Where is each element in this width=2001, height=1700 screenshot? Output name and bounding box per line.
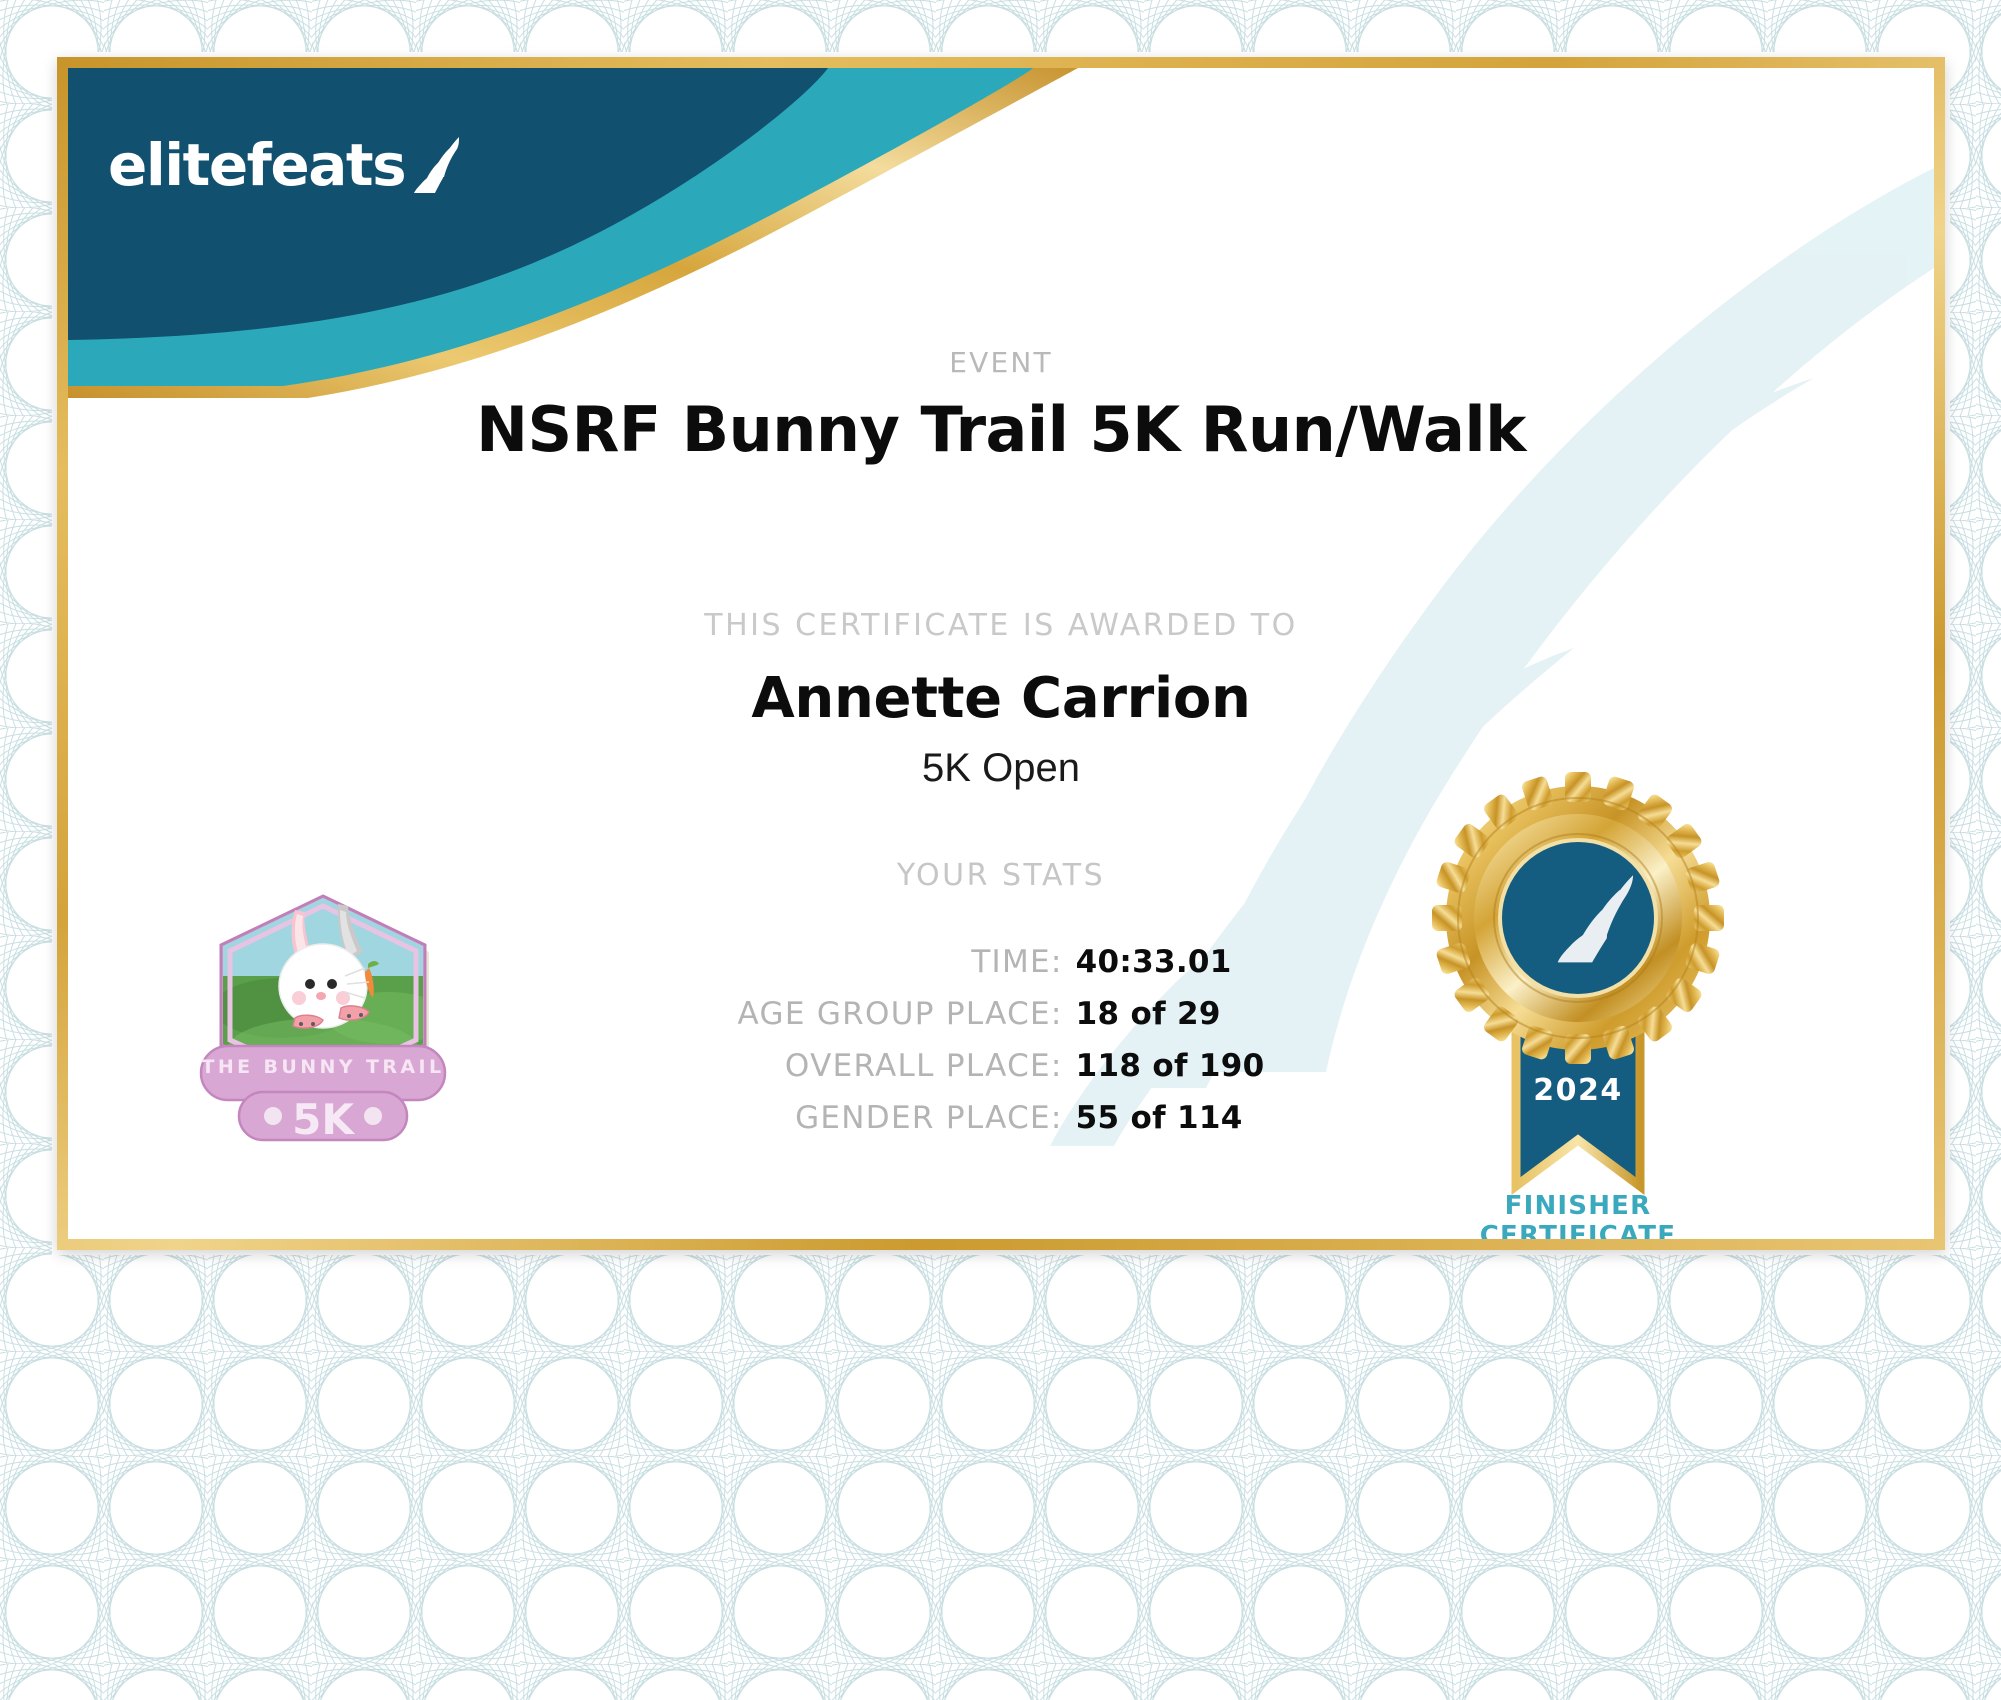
table-row: TIME: 40:33.01 [738, 936, 1265, 988]
recipient-name: Annette Carrion [68, 666, 1934, 731]
winged-foot-icon [407, 131, 471, 195]
table-row: OVERALL PLACE: 118 of 190 [738, 1040, 1265, 1092]
stat-key: AGE GROUP PLACE: [738, 988, 1076, 1040]
svg-text:THE BUNNY TRAIL: THE BUNNY TRAIL [201, 1056, 444, 1078]
finisher-seal: 2024 [1398, 768, 1758, 1250]
bunny-trail-medal-icon: THE BUNNY TRAIL 5K [173, 868, 473, 1158]
stat-value: 55 of 114 [1076, 1092, 1265, 1144]
seal-caption-line2: CERTIFICATE [1398, 1222, 1758, 1250]
event-label: EVENT [68, 346, 1934, 379]
stat-value: 40:33.01 [1076, 936, 1265, 988]
seal-caption: FINISHER CERTIFICATE [1398, 1192, 1758, 1250]
event-title: NSRF Bunny Trail 5K Run/Walk [68, 393, 1934, 466]
seal-year: 2024 [1533, 1073, 1623, 1108]
stats-table: TIME: 40:33.01 AGE GROUP PLACE: 18 of 29… [738, 936, 1265, 1144]
stat-key: GENDER PLACE: [738, 1092, 1076, 1144]
stat-key: TIME: [738, 936, 1076, 988]
stat-key: OVERALL PLACE: [738, 1040, 1076, 1092]
svg-text:5K: 5K [292, 1095, 355, 1144]
stat-value: 118 of 190 [1076, 1040, 1265, 1092]
stat-value: 18 of 29 [1076, 988, 1265, 1040]
table-row: AGE GROUP PLACE: 18 of 29 [738, 988, 1265, 1040]
gold-award-seal-icon: 2024 [1398, 768, 1758, 1198]
table-row: GENDER PLACE: 55 of 114 [738, 1092, 1265, 1144]
certificate-frame: elitefeats EVENT NSRF Bunny Trail 5K Run… [57, 57, 1945, 1250]
elitefeats-logo: elitefeats [108, 131, 471, 199]
awarded-to-label: THIS CERTIFICATE IS AWARDED TO [68, 608, 1934, 643]
seal-caption-line1: FINISHER [1398, 1192, 1758, 1222]
logo-wordmark: elitefeats [108, 136, 405, 194]
